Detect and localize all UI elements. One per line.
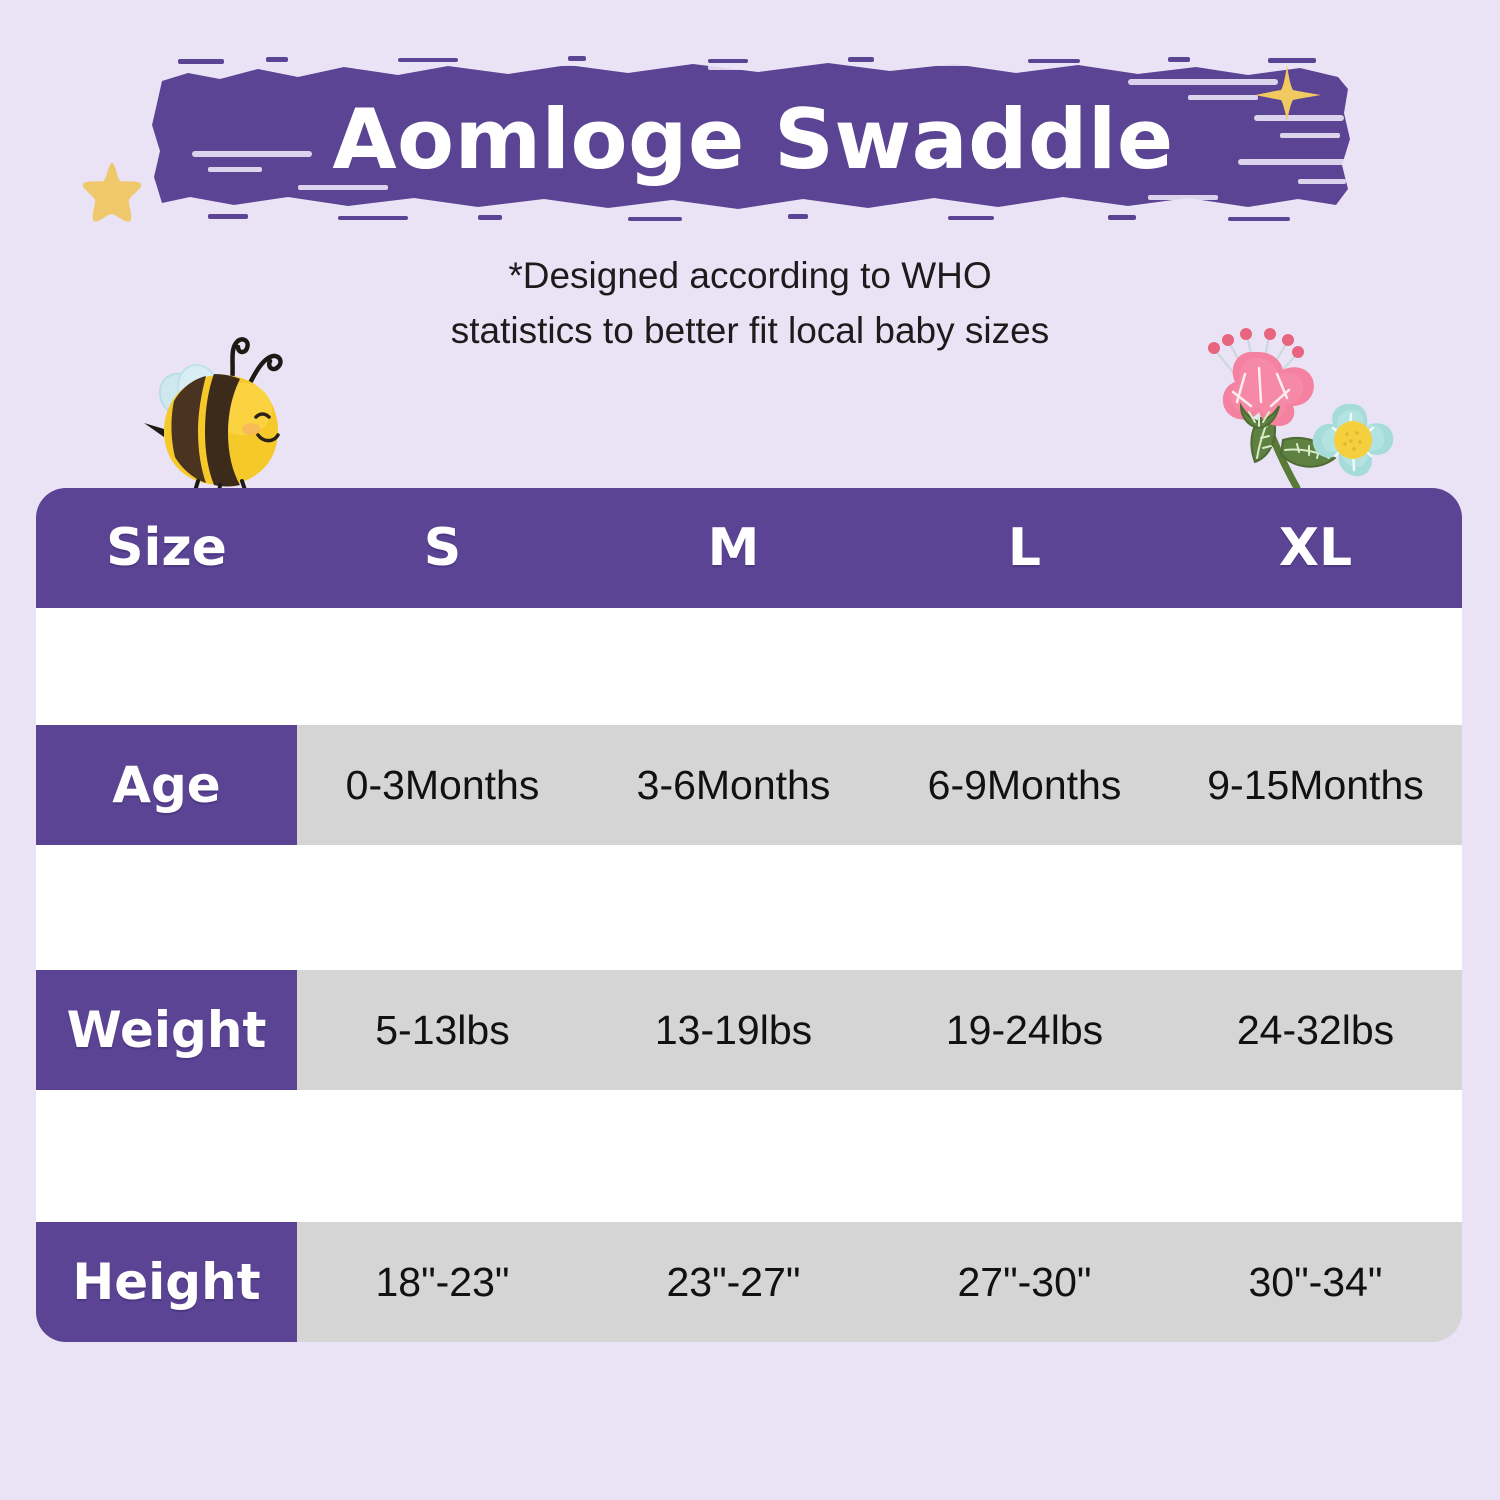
row-label-age: Age [36,725,297,845]
size-chart-table: Size S M L XL Age 0-3Months 3-6Months 6-… [36,488,1462,1344]
header-cell-xl: XL [1170,488,1461,608]
cell-height-m: 23"-27" [588,1222,879,1342]
row-spacer-1 [36,608,1462,725]
table-row-weight: Weight 5-13lbs 13-19lbs 19-24lbs 24-32lb… [36,970,1462,1090]
cell-weight-l: 19-24lbs [879,970,1170,1090]
cell-weight-s: 5-13lbs [297,970,588,1090]
header-cell-l: L [879,488,1170,608]
cell-height-l: 27"-30" [879,1222,1170,1342]
table-row-height: Height 18"-23" 23"-27" 27"-30" 30"-34" [36,1222,1462,1342]
cell-weight-xl: 24-32lbs [1170,970,1461,1090]
bee-icon [128,325,308,510]
cell-height-xl: 30"-34" [1170,1222,1461,1342]
row-spacer-2 [36,845,1462,970]
cell-age-xl: 9-15Months [1170,725,1461,845]
flowers-icon [1185,322,1410,502]
header-cell-m: M [588,488,879,608]
page-title: Aomloge Swaddle [148,55,1358,223]
row-label-weight: Weight [36,970,297,1090]
cell-age-l: 6-9Months [879,725,1170,845]
header-cell-size: Size [36,488,297,608]
subtitle-line-1: *Designed according to WHO [0,248,1500,303]
title-banner: Aomloge Swaddle [148,55,1358,223]
cell-height-s: 18"-23" [297,1222,588,1342]
row-label-height: Height [36,1222,297,1342]
header-cell-s: S [297,488,588,608]
cell-weight-m: 13-19lbs [588,970,879,1090]
cell-age-m: 3-6Months [588,725,879,845]
cell-age-s: 0-3Months [297,725,588,845]
table-row-age: Age 0-3Months 3-6Months 6-9Months 9-15Mo… [36,725,1462,845]
row-spacer-3 [36,1090,1462,1222]
table-header-row: Size S M L XL [36,488,1462,608]
star-icon [78,160,146,226]
